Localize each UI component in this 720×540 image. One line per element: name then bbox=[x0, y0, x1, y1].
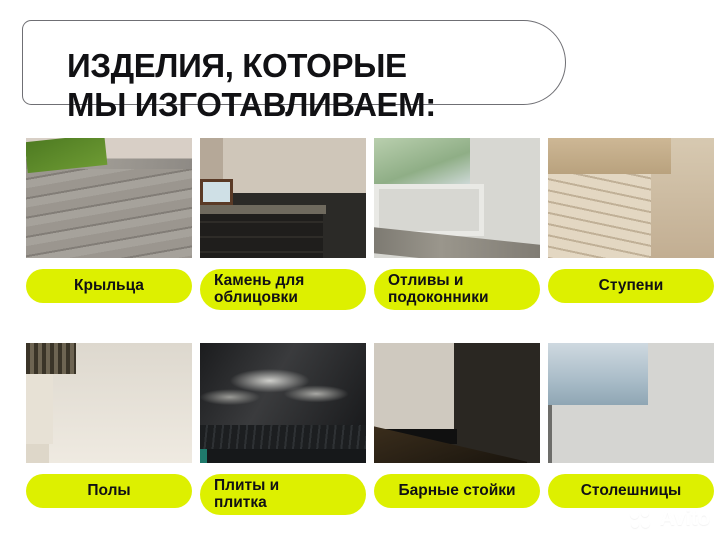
category-card[interactable]: Столешницы bbox=[548, 343, 714, 508]
category-badge[interactable]: Отливы и подоконники bbox=[374, 269, 540, 310]
category-label: Плиты и плитка bbox=[214, 478, 279, 511]
category-photo-countertop bbox=[548, 343, 714, 463]
category-badge[interactable]: Крыльца bbox=[26, 269, 192, 303]
category-badge[interactable]: Столешницы bbox=[548, 474, 714, 508]
category-label: Столешницы bbox=[581, 483, 682, 500]
category-badge[interactable]: Камень для облицовки bbox=[200, 269, 366, 310]
category-label: Отливы и подоконники bbox=[388, 273, 489, 306]
category-badge[interactable]: Полы bbox=[26, 474, 192, 508]
category-label: Крыльца bbox=[74, 278, 144, 295]
avito-logo-dots-icon bbox=[630, 509, 656, 529]
category-photo-cladding bbox=[200, 138, 366, 258]
product-category-grid: Крыльца Камень для облицовки Отливы и по… bbox=[0, 0, 720, 540]
category-photo-stairs bbox=[548, 138, 714, 258]
category-photo-floor bbox=[26, 343, 192, 463]
avito-wordmark: Avito bbox=[660, 507, 710, 531]
category-photo-slab bbox=[200, 343, 366, 463]
category-card[interactable]: Барные стойки bbox=[374, 343, 540, 508]
category-photo-bar-counter bbox=[374, 343, 540, 463]
category-badge[interactable]: Плиты и плитка bbox=[200, 474, 366, 515]
promo-banner: ИЗДЕЛИЯ, КОТОРЫЕ МЫ ИЗГОТАВЛИВАЕМ: Крыль… bbox=[0, 0, 720, 540]
category-label: Камень для облицовки bbox=[214, 273, 304, 306]
category-photo-porch bbox=[26, 138, 192, 258]
category-badge[interactable]: Барные стойки bbox=[374, 474, 540, 508]
category-card[interactable]: Отливы и подоконники bbox=[374, 138, 540, 310]
category-label: Полы bbox=[87, 483, 130, 500]
category-card[interactable]: Камень для облицовки bbox=[200, 138, 366, 310]
category-card[interactable]: Ступени bbox=[548, 138, 714, 303]
category-photo-window-sill bbox=[374, 138, 540, 258]
category-card[interactable]: Полы bbox=[26, 343, 192, 508]
category-label: Ступени bbox=[599, 278, 664, 295]
category-label: Барные стойки bbox=[398, 483, 515, 500]
category-card[interactable]: Плиты и плитка bbox=[200, 343, 366, 515]
avito-watermark: Avito bbox=[630, 507, 710, 531]
category-badge[interactable]: Ступени bbox=[548, 269, 714, 303]
category-card[interactable]: Крыльца bbox=[26, 138, 192, 303]
